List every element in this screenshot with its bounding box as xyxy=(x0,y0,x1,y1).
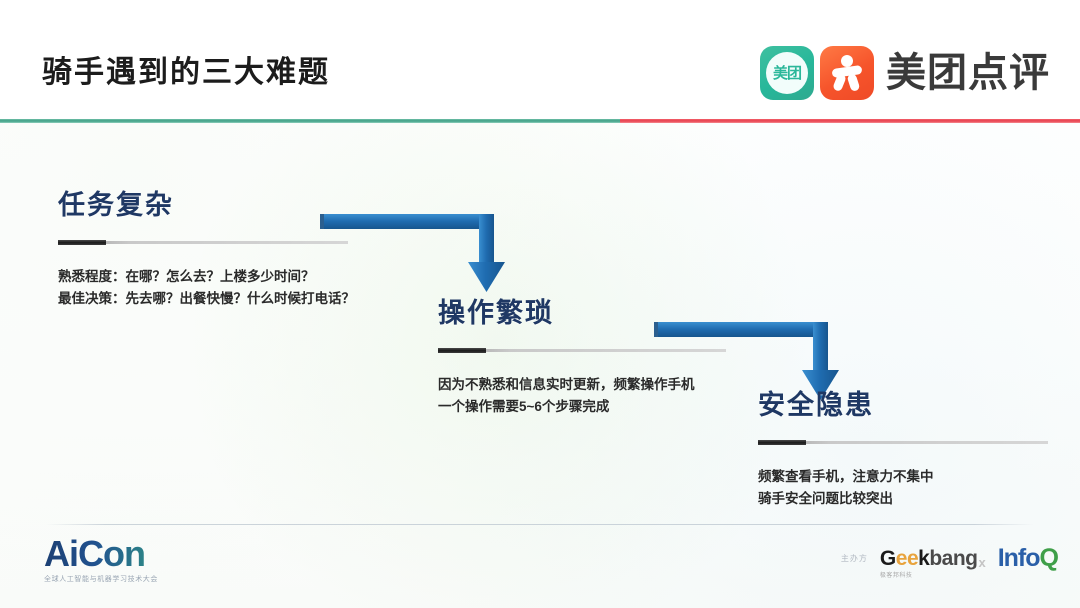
geekbang-ee: ee xyxy=(896,548,918,569)
block-3-line-1: 频繁查看手机，注意力不集中 xyxy=(758,466,1048,488)
block-3-body: 频繁查看手机，注意力不集中 骑手安全问题比较突出 xyxy=(758,466,1048,510)
figure-leg-right xyxy=(847,73,861,92)
block-1-body: 熟悉程度：在哪？怎么去？上楼多少时间？ 最佳决策：先去哪？出餐快慢？什么时候打电… xyxy=(58,266,348,310)
geekbang-subtitle: 极客邦科技 xyxy=(880,570,913,579)
block-1-rule xyxy=(58,241,348,244)
aicon-logo: AiCon 全球人工智能与机器学习技术大会 xyxy=(44,536,158,583)
problem-block-1: 任务复杂 熟悉程度：在哪？怎么去？上楼多少时间？ 最佳决策：先去哪？出餐快慢？什… xyxy=(58,192,348,310)
elbow-arrow-1 xyxy=(318,210,518,305)
geekbang-logo: G ee k bang x xyxy=(880,548,986,569)
problem-block-3: 安全隐患 频繁查看手机，注意力不集中 骑手安全问题比较突出 xyxy=(758,392,1048,510)
block-1-heading: 任务复杂 xyxy=(58,192,348,219)
header-rule-red xyxy=(620,119,1080,123)
block-1-line-1: 熟悉程度：在哪？怎么去？上楼多少时间？ xyxy=(58,266,348,288)
sponsor-label: 主办方 xyxy=(841,555,868,563)
footer-divider xyxy=(46,524,1034,525)
dianping-figure-icon xyxy=(830,55,864,91)
meituan-icon-label: 美团 xyxy=(773,66,801,81)
brand-wordmark: 美团点评 xyxy=(886,53,1050,93)
geekbang-k: k xyxy=(918,548,929,569)
infoq-logo: Info Q xyxy=(998,546,1058,571)
meituan-dianping-logo: 美团 美团点评 xyxy=(760,46,1050,100)
slide-header: 骑手遇到的三大难题 美团 美团点评 xyxy=(0,0,1080,120)
block-3-rule xyxy=(758,441,1048,444)
sponsor-logos: 主办方 G ee k bang x 极客邦科技 Info Q xyxy=(841,546,1058,571)
dianping-app-icon xyxy=(820,46,874,100)
header-rule-teal xyxy=(0,119,620,123)
meituan-disc: 美团 xyxy=(766,52,808,94)
geekbang-x: x xyxy=(978,556,985,569)
infoq-info: Info xyxy=(998,546,1040,571)
infoq-q: Q xyxy=(1040,546,1058,571)
block-3-heading: 安全隐患 xyxy=(758,392,1048,419)
block-1-line-2: 最佳决策：先去哪？出餐快慢？什么时候打电话？ xyxy=(58,288,348,310)
meituan-app-icon: 美团 xyxy=(760,46,814,100)
figure-head xyxy=(841,55,853,67)
slide-canvas: 骑手遇到的三大难题 美团 美团点评 任务复杂 熟 xyxy=(0,0,1080,608)
geekbang-g: G xyxy=(880,548,896,569)
elbow-arrow-1-icon xyxy=(318,210,518,300)
aicon-wordmark: AiCon xyxy=(44,536,158,572)
geekbang-bang: bang xyxy=(929,548,977,569)
block-3-line-2: 骑手安全问题比较突出 xyxy=(758,488,1048,510)
aicon-tagline: 全球人工智能与机器学习技术大会 xyxy=(44,576,158,583)
geekbang-logo-wrap: G ee k bang x 极客邦科技 xyxy=(880,548,986,569)
page-title: 骑手遇到的三大难题 xyxy=(42,58,330,88)
